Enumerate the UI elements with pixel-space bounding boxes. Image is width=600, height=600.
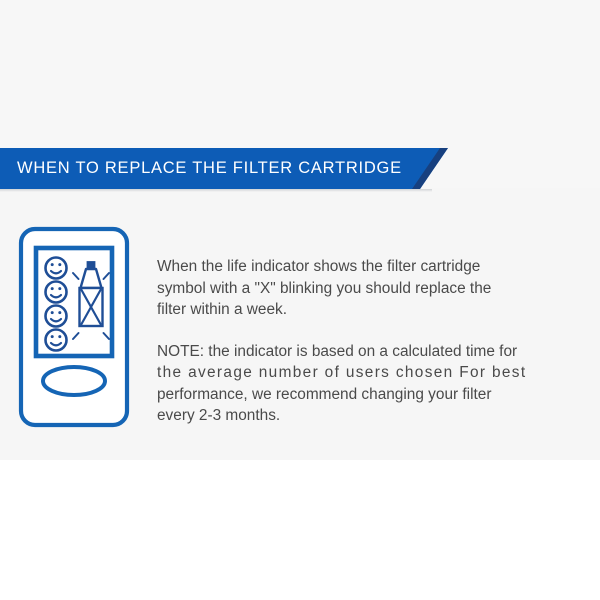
device-oval-button[interactable]	[43, 367, 105, 395]
paragraph-note: NOTE: the indicator is based on a calcul…	[157, 341, 562, 427]
smiley-face-icon-2	[46, 282, 67, 303]
banner-shadow	[0, 189, 432, 192]
filter-life-indicator-illustration	[18, 226, 130, 428]
instruction-text-column: When the life indicator shows the filter…	[157, 256, 562, 427]
paragraph-2-line-1: NOTE: the indicator is based on a calcul…	[157, 341, 562, 363]
paragraph-replace-instruction: When the life indicator shows the filter…	[157, 256, 562, 321]
page-root: WHEN TO REPLACE THE FILTER CARTRIDGE	[0, 0, 600, 600]
paragraph-2-line-4: every 2-3 months.	[157, 405, 562, 427]
section-banner: WHEN TO REPLACE THE FILTER CARTRIDGE	[0, 148, 448, 189]
smiley-face-icon-3	[46, 306, 67, 327]
page-title: WHEN TO REPLACE THE FILTER CARTRIDGE	[17, 148, 402, 189]
smiley-face-icon-4	[46, 330, 67, 351]
paragraph-1-line-3: filter within a week.	[157, 299, 562, 321]
paragraph-2-line-3: performance, we recommend changing your …	[157, 384, 562, 406]
paragraph-1-line-2: symbol with a "X" blinking you should re…	[157, 278, 562, 300]
paragraph-2-line-2: the average number of users chosen For b…	[157, 362, 562, 384]
paragraph-1-line-1: When the life indicator shows the filter…	[157, 256, 562, 278]
smiley-face-icon-1	[46, 258, 67, 279]
